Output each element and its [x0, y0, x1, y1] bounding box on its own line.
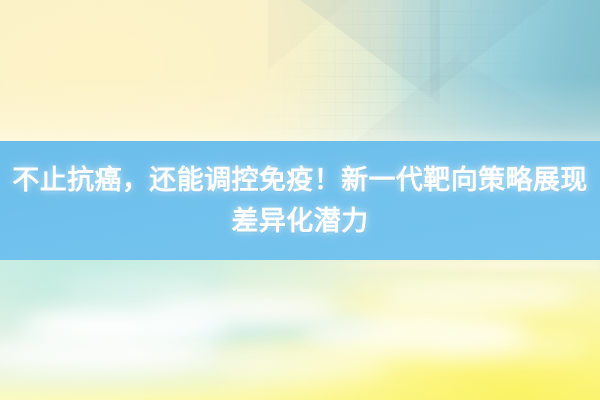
cloud-shape	[380, 280, 580, 310]
cloud-shape	[60, 276, 210, 298]
banner-bottom-seam	[300, 260, 600, 270]
top-section-fade	[0, 0, 600, 142]
cloud-shape	[210, 352, 390, 380]
article-hero-banner: 不止抗癌，还能调控免疫！新一代靶向策略展现差异化潜力	[0, 0, 600, 400]
bottom-decorative-section	[0, 260, 600, 400]
article-title: 不止抗癌，还能调控免疫！新一代靶向策略展现差异化潜力	[4, 160, 596, 242]
cloud-shape	[430, 334, 590, 360]
top-decorative-section	[0, 0, 600, 142]
title-banner: 不止抗癌，还能调控免疫！新一代靶向策略展现差异化潜力	[0, 141, 600, 261]
